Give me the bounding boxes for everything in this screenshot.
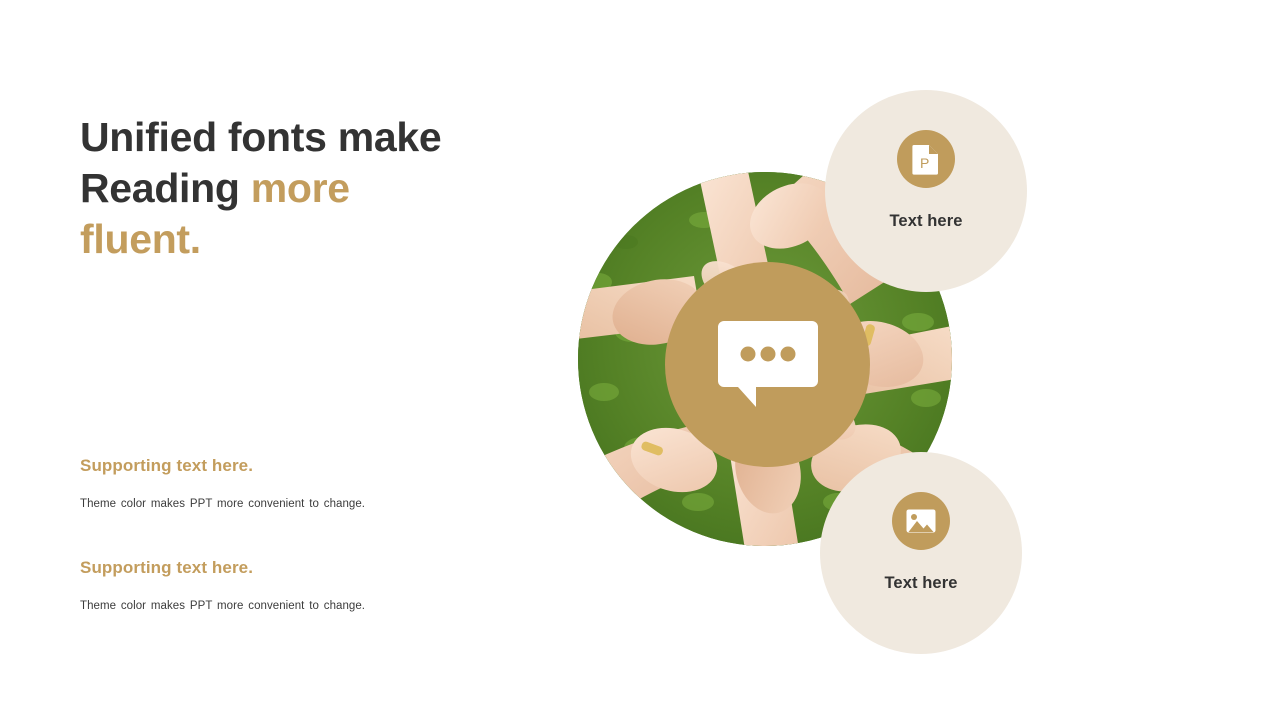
document-file-p-icon: P [911,143,941,175]
supporting-block-2: Supporting text here. Theme color makes … [80,558,510,612]
headline-line-2-accent: more [251,165,350,211]
image-icon-badge [892,492,950,550]
supporting-body-2: Theme color makes PPT more convenient to… [80,600,510,612]
graphic-cluster: P Text here Text here [560,70,1060,670]
headline-line-2-dark: Reading [80,165,251,211]
satellite-card-top[interactable]: P Text here [825,90,1027,292]
document-icon-badge: P [897,130,955,188]
headline-line-3-accent: fluent. [80,216,201,262]
headline-block: Unified fonts make Reading more fluent. [80,112,510,265]
slide-canvas: Unified fonts make Reading more fluent. … [0,0,1280,720]
supporting-title-2: Supporting text here. [80,558,510,578]
satellite-bottom-label: Text here [884,574,957,593]
image-picture-icon [905,507,937,535]
satellite-card-bottom[interactable]: Text here [820,452,1022,654]
headline-line-1: Unified fonts make [80,114,441,160]
page-title: Unified fonts make Reading more fluent. [80,112,510,265]
chat-bubble-icon [716,317,820,413]
svg-text:P: P [920,155,929,171]
supporting-body-1: Theme color makes PPT more convenient to… [80,498,510,510]
supporting-title-1: Supporting text here. [80,456,510,476]
center-chat-badge[interactable] [665,262,870,467]
satellite-top-label: Text here [889,212,962,231]
supporting-block-1: Supporting text here. Theme color makes … [80,456,510,510]
